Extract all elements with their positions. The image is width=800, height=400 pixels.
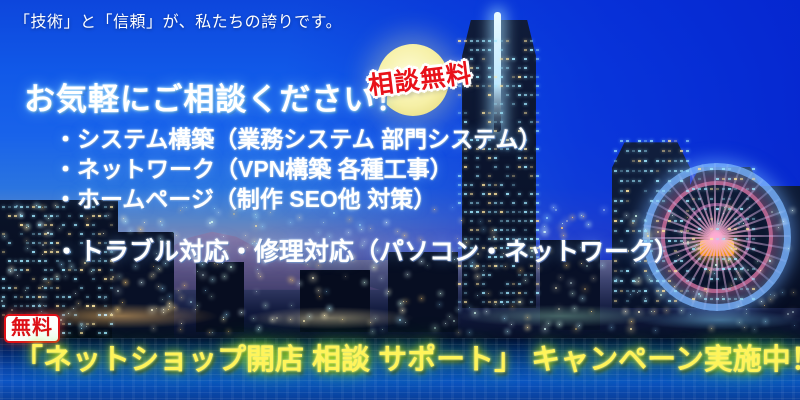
campaign-headline: 「ネットショップ開店 相談 サポート」 キャンペーン実施中！ xyxy=(14,336,800,378)
tagline: 「技術」と「信頼」が、私たちの誇りです。 xyxy=(14,8,342,32)
headline: お気軽にご相談ください！ xyxy=(24,74,407,119)
promo-banner: 「技術」と「信頼」が、私たちの誇りです。 お気軽にご相談ください！ 相談無料 ・… xyxy=(0,0,800,400)
landmark-tower-light xyxy=(494,12,501,132)
list-item: ・ネットワーク（VPN構築 各種工事） xyxy=(54,154,541,184)
list-item: ・システム構築（業務システム 部門システム） xyxy=(54,124,541,154)
list-item: ・ホームページ（制作 SEO他 対策） xyxy=(54,184,541,214)
service-list: ・システム構築（業務システム 部門システム） ・ネットワーク（VPN構築 各種工… xyxy=(54,124,541,214)
list-item-trouble-support: ・トラブル対応・修理対応（パソコン・ネットワーク） xyxy=(54,232,679,268)
